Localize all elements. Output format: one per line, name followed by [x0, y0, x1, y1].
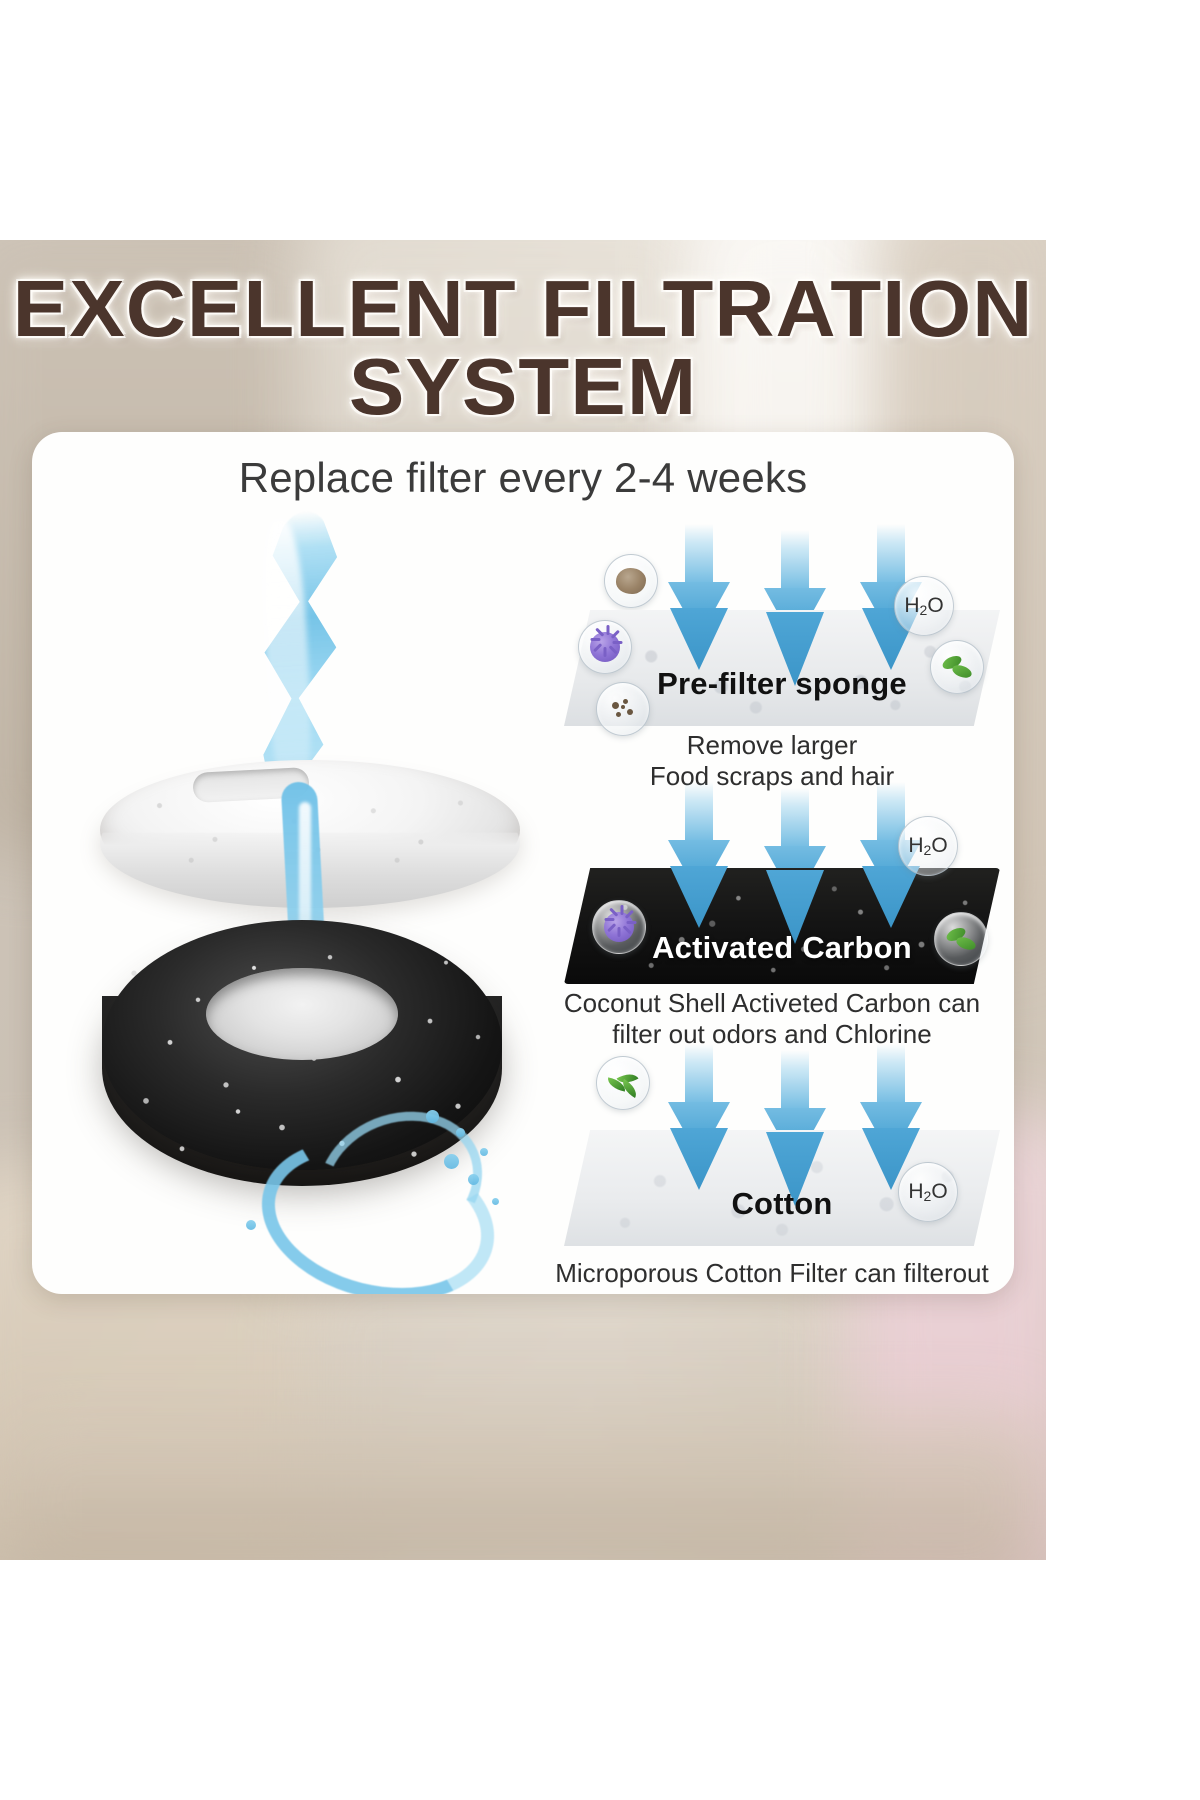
splash-droplet	[492, 1198, 499, 1205]
h2o-label: H2O	[904, 594, 943, 618]
caption-line-1: Coconut Shell Activeted Carbon can	[542, 988, 1002, 1019]
layer-pre-filter-sponge: H2O Pre-filter sponge Remove larger Food…	[542, 524, 1002, 756]
h2o-label: H2O	[908, 834, 947, 858]
virus-glyph	[590, 632, 620, 662]
carbon-center-hole	[206, 968, 398, 1060]
layer-label-activated-carbon: Activated Carbon	[564, 930, 1000, 966]
splash-droplet	[246, 1220, 256, 1230]
layer-caption-activated-carbon: Coconut Shell Activeted Carbon can filte…	[542, 988, 1002, 1049]
splash-droplet	[480, 1148, 488, 1156]
debris-icon	[604, 554, 658, 608]
debris-glyph	[616, 568, 646, 594]
layer-label-cotton: Cotton	[564, 1186, 1000, 1222]
letterbox-bottom	[0, 1560, 1200, 1800]
headline-block: EXCELLENT FILTRATION SYSTEM	[0, 272, 1046, 423]
filtration-layers: H2O Pre-filter sponge Remove larger Food…	[542, 524, 1002, 1292]
caption-line-1: Remove larger	[542, 730, 1002, 761]
layer-label-pre-filter-sponge: Pre-filter sponge	[564, 666, 1000, 702]
h2o-badge: H2O	[894, 576, 954, 636]
letterbox-top	[0, 0, 1200, 240]
leaf-glyph	[606, 1069, 640, 1097]
layer-caption-cotton: Microporous Cotton Filter can filterout …	[542, 1258, 1002, 1294]
splash-droplet	[444, 1154, 459, 1169]
leaf-icon	[596, 1056, 650, 1110]
page-title-line-2: SYSTEM	[0, 350, 1067, 424]
splash-droplet	[456, 1128, 465, 1137]
page-title-line-1: EXCELLENT FILTRATION	[0, 272, 1067, 346]
content-card: Replace filter every 2-4 weeks	[32, 432, 1014, 1294]
card-subtitle: Replace filter every 2-4 weeks	[32, 454, 1014, 502]
h2o-badge: H2O	[898, 816, 958, 876]
caption-line-1: Microporous Cotton Filter can filterout	[542, 1258, 1002, 1289]
caption-line-2: large residue hair and debris	[542, 1289, 1002, 1294]
layer-cotton: H2O Cotton Microporous Cotton Filter can…	[542, 1044, 1002, 1284]
layer-activated-carbon: H2O Activated Carbon Coconut Shell Activ…	[542, 782, 1002, 1014]
product-photo	[50, 502, 550, 1292]
splash-droplet	[468, 1174, 479, 1185]
splash-droplet	[426, 1110, 439, 1123]
water-splash-icon	[230, 1102, 530, 1294]
bg-blur-shape	[0, 1416, 1046, 1564]
infographic-stage: EXCELLENT FILTRATION SYSTEM Replace filt…	[0, 0, 1200, 1800]
